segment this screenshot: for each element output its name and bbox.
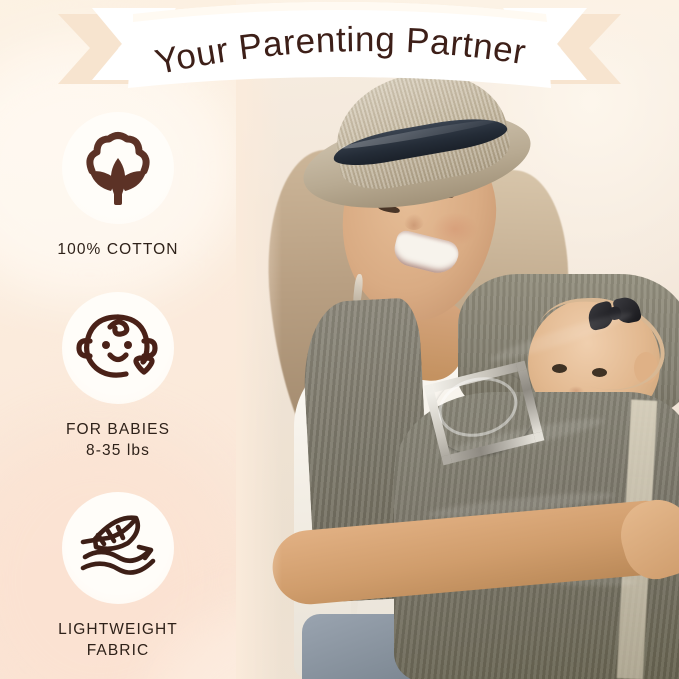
feature-label-line1: LIGHTWEIGHT [58, 621, 178, 638]
feather-waves-icon [74, 511, 162, 585]
cotton-boll-icon [75, 125, 161, 211]
feature-icon-circle [62, 292, 174, 404]
feature-label-line1: 100% COTTON [57, 241, 178, 258]
baby-face-heart-icon [74, 308, 162, 388]
feature-item-babies: FOR BABIES 8-35 lbs [0, 292, 236, 462]
feature-label-cotton: 100% COTTON [0, 240, 236, 261]
feature-label-babies: FOR BABIES 8-35 lbs [0, 420, 236, 462]
feature-label-line2: FABRIC [0, 641, 236, 662]
product-feature-poster: Your Parenting Partner [0, 0, 679, 679]
nose [404, 214, 424, 230]
feature-icon-circle [62, 492, 174, 604]
feature-icon-circle [62, 112, 174, 224]
feature-item-cotton: 100% COTTON [0, 112, 236, 261]
feature-label-line2: 8-35 lbs [0, 441, 236, 462]
feature-label-line1: FOR BABIES [66, 421, 170, 438]
feature-item-lightweight: LIGHTWEIGHT FABRIC [0, 492, 236, 662]
feature-label-lightweight: LIGHTWEIGHT FABRIC [0, 620, 236, 662]
feature-list: 100% COTTON [0, 0, 236, 679]
